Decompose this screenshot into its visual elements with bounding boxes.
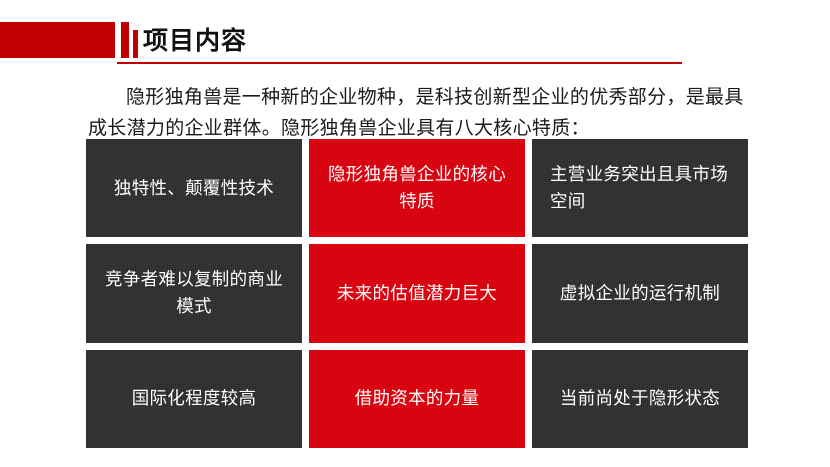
trait-cell-label: 虚拟企业的运行机制	[550, 280, 730, 307]
trait-cell-label: 竞争者难以复制的商业模式	[104, 266, 284, 320]
trait-cell-label: 借助资本的力量	[327, 385, 507, 412]
trait-cell-label: 国际化程度较高	[104, 385, 284, 412]
trait-cell-label: 主营业务突出且具市场空间	[550, 161, 730, 215]
trait-cell: 当前尚处于隐形状态	[532, 350, 748, 448]
header-red-block	[0, 22, 115, 58]
trait-cell-label: 当前尚处于隐形状态	[550, 385, 730, 412]
trait-cell: 独特性、颠覆性技术	[86, 139, 302, 237]
trait-cell-highlighted: 未来的估值潜力巨大	[309, 244, 525, 342]
header-red-bar-thick	[121, 22, 129, 58]
trait-cell: 国际化程度较高	[86, 350, 302, 448]
traits-grid: 独特性、颠覆性技术 隐形独角兽企业的核心特质 主营业务突出且具市场空间 竞争者难…	[86, 139, 748, 448]
trait-cell: 竞争者难以复制的商业模式	[86, 244, 302, 342]
trait-cell-label: 隐形独角兽企业的核心特质	[327, 161, 507, 215]
trait-cell-label: 独特性、颠覆性技术	[104, 175, 284, 202]
trait-cell-highlighted: 隐形独角兽企业的核心特质	[309, 139, 525, 237]
trait-cell: 主营业务突出且具市场空间	[532, 139, 748, 237]
slide-root: 项目内容 隐形独角兽是一种新的企业物种，是科技创新型企业的优秀部分，是最具成长潜…	[0, 0, 830, 467]
header-red-bar-thin	[133, 30, 138, 58]
intro-paragraph: 隐形独角兽是一种新的企业物种，是科技创新型企业的优秀部分，是最具成长潜力的企业群…	[88, 82, 748, 144]
trait-cell: 虚拟企业的运行机制	[532, 244, 748, 342]
header-divider	[117, 62, 682, 64]
trait-cell-highlighted: 借助资本的力量	[309, 350, 525, 448]
trait-cell-label: 未来的估值潜力巨大	[327, 280, 507, 307]
page-title: 项目内容	[143, 25, 247, 57]
